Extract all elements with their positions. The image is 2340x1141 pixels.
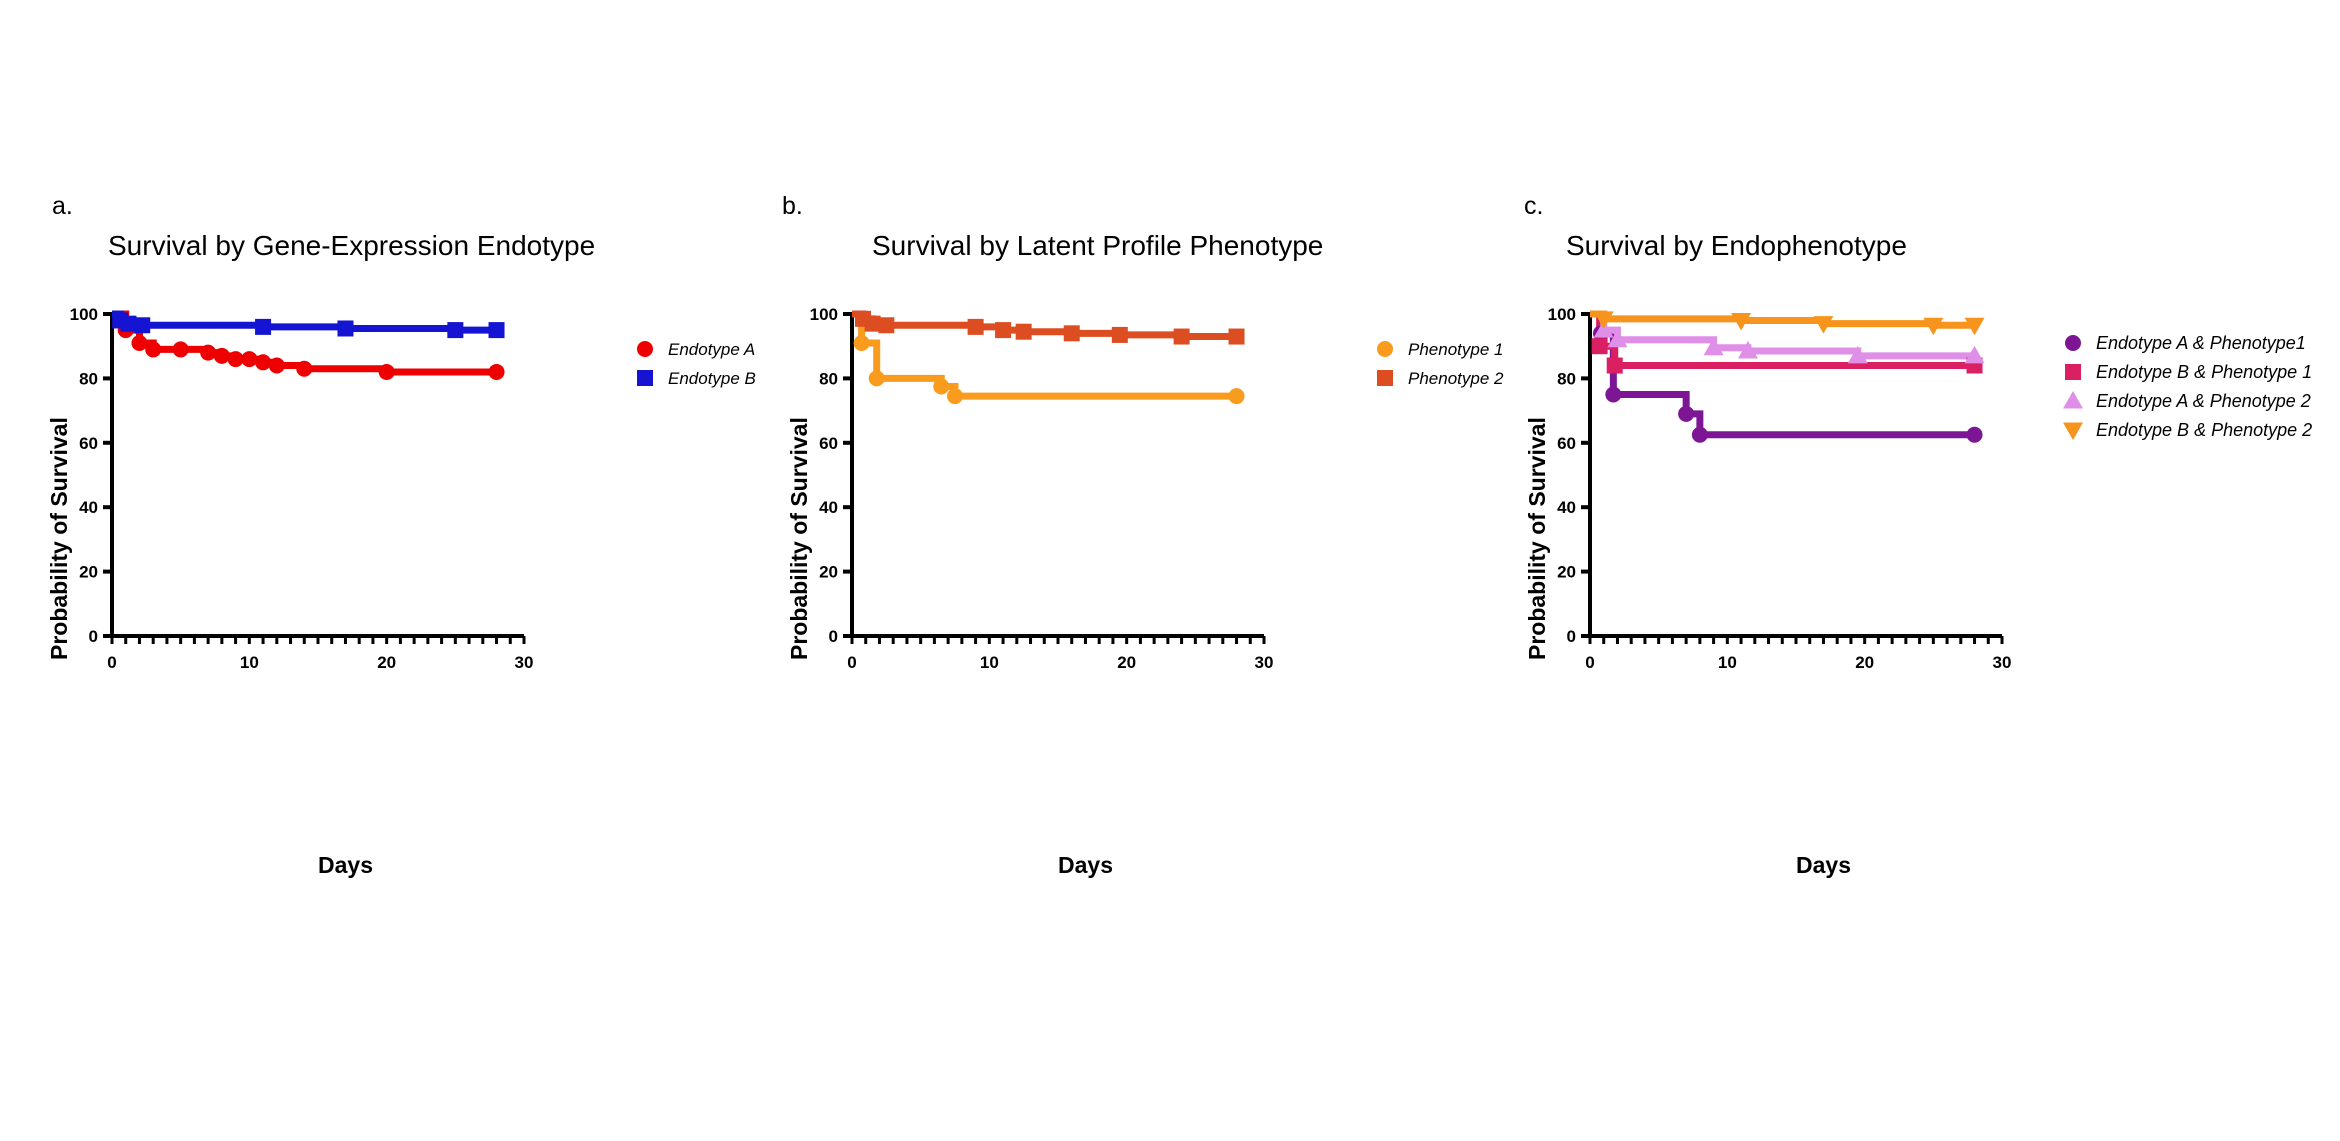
panel-a-letter: a. bbox=[52, 192, 73, 221]
panel-c-plot: 0204060801000102030 bbox=[1538, 300, 2018, 720]
legend-label: Endotype A & Phenotype 2 bbox=[2096, 392, 2311, 410]
svg-text:60: 60 bbox=[1557, 434, 1576, 453]
svg-text:80: 80 bbox=[819, 369, 838, 388]
svg-text:0: 0 bbox=[847, 653, 856, 672]
svg-text:20: 20 bbox=[819, 563, 838, 582]
panel-b-legend: Phenotype 1 Phenotype 2 bbox=[1372, 336, 1503, 394]
svg-text:100: 100 bbox=[70, 305, 98, 324]
svg-text:20: 20 bbox=[1557, 563, 1576, 582]
legend-item[interactable]: Endotype B & Phenotype 2 bbox=[2060, 417, 2312, 443]
legend-marker-triangle-down-icon bbox=[2060, 418, 2086, 442]
legend-label: Phenotype 1 bbox=[1408, 341, 1503, 358]
legend-marker-square-icon bbox=[632, 366, 658, 390]
svg-text:20: 20 bbox=[377, 653, 396, 672]
panel-a: a. Survival by Gene-Expression Endotype … bbox=[0, 0, 780, 1141]
legend-label: Endotype B & Phenotype 2 bbox=[2096, 421, 2312, 439]
legend-item[interactable]: Endotype A & Phenotype 2 bbox=[2060, 388, 2312, 414]
panel-b: b. Survival by Latent Profile Phenotype … bbox=[760, 0, 1540, 1141]
svg-text:60: 60 bbox=[79, 434, 98, 453]
panel-c-title: Survival by Endophenotype bbox=[1566, 230, 1907, 262]
legend-item[interactable]: Endotype A bbox=[632, 336, 756, 362]
svg-text:60: 60 bbox=[819, 434, 838, 453]
svg-text:40: 40 bbox=[79, 498, 98, 517]
legend-item[interactable]: Endotype B bbox=[632, 365, 756, 391]
svg-text:20: 20 bbox=[79, 563, 98, 582]
legend-marker-square-icon bbox=[1372, 366, 1398, 390]
svg-text:40: 40 bbox=[1557, 498, 1576, 517]
panel-c-legend: Endotype A & Phenotype1 Endotype B & Phe… bbox=[2060, 330, 2312, 446]
legend-label: Endotype B bbox=[668, 370, 756, 387]
svg-text:0: 0 bbox=[1567, 627, 1576, 646]
panel-a-plot: 0204060801000102030 bbox=[60, 300, 540, 720]
legend-label: Endotype A bbox=[668, 341, 755, 358]
panel-b-plot: 0204060801000102030 bbox=[800, 300, 1280, 720]
svg-text:10: 10 bbox=[240, 653, 259, 672]
legend-marker-circle-icon bbox=[1372, 337, 1398, 361]
panel-b-xlabel: Days bbox=[1058, 852, 1113, 879]
svg-text:80: 80 bbox=[79, 369, 98, 388]
panel-c-xlabel: Days bbox=[1796, 852, 1851, 879]
panel-b-letter: b. bbox=[782, 192, 803, 221]
panel-a-title: Survival by Gene-Expression Endotype bbox=[108, 230, 595, 262]
svg-text:30: 30 bbox=[1255, 653, 1274, 672]
svg-text:0: 0 bbox=[829, 627, 838, 646]
legend-item[interactable]: Phenotype 1 bbox=[1372, 336, 1503, 362]
svg-text:100: 100 bbox=[1548, 305, 1576, 324]
panel-c: c. Survival by Endophenotype Probability… bbox=[1500, 0, 2340, 1141]
svg-text:80: 80 bbox=[1557, 369, 1576, 388]
svg-text:0: 0 bbox=[1585, 653, 1594, 672]
legend-marker-circle-icon bbox=[2060, 331, 2086, 355]
legend-item[interactable]: Endotype B & Phenotype 1 bbox=[2060, 359, 2312, 385]
legend-item[interactable]: Phenotype 2 bbox=[1372, 365, 1503, 391]
legend-label: Endotype A & Phenotype1 bbox=[2096, 334, 2306, 352]
svg-text:20: 20 bbox=[1117, 653, 1136, 672]
svg-text:0: 0 bbox=[89, 627, 98, 646]
svg-text:40: 40 bbox=[819, 498, 838, 517]
legend-label: Endotype B & Phenotype 1 bbox=[2096, 363, 2312, 381]
legend-marker-circle-icon bbox=[632, 337, 658, 361]
svg-text:10: 10 bbox=[980, 653, 999, 672]
svg-text:30: 30 bbox=[1993, 653, 2012, 672]
panel-a-xlabel: Days bbox=[318, 852, 373, 879]
svg-text:100: 100 bbox=[810, 305, 838, 324]
survival-figure: a. Survival by Gene-Expression Endotype … bbox=[0, 0, 2340, 1141]
legend-marker-triangle-up-icon bbox=[2060, 389, 2086, 413]
svg-text:30: 30 bbox=[515, 653, 534, 672]
svg-text:0: 0 bbox=[107, 653, 116, 672]
legend-marker-square-icon bbox=[2060, 360, 2086, 384]
panel-c-letter: c. bbox=[1524, 192, 1543, 221]
panel-a-legend: Endotype A Endotype B bbox=[632, 336, 756, 394]
panel-b-title: Survival by Latent Profile Phenotype bbox=[872, 230, 1323, 262]
svg-text:10: 10 bbox=[1718, 653, 1737, 672]
svg-text:20: 20 bbox=[1855, 653, 1874, 672]
legend-label: Phenotype 2 bbox=[1408, 370, 1503, 387]
legend-item[interactable]: Endotype A & Phenotype1 bbox=[2060, 330, 2312, 356]
